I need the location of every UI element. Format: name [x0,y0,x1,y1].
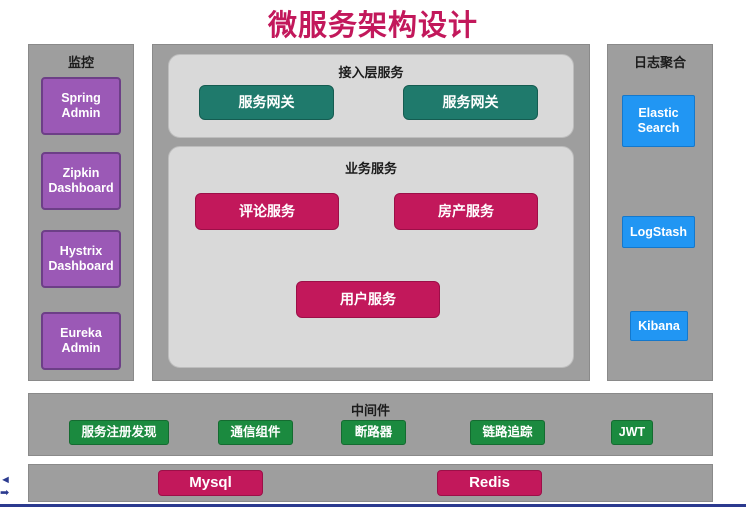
mysql[interactable]: Mysql [158,470,263,496]
redis[interactable]: Redis [437,470,542,496]
property-service[interactable]: 房产服务 [394,193,538,230]
service-gateway-1[interactable]: 服务网关 [199,85,334,120]
comment-service[interactable]: 评论服务 [195,193,339,230]
nav-arrows[interactable]: ◄ ➡ [0,479,24,493]
jwt[interactable]: JWT [611,420,653,445]
panel-monitor-label: 监控 [29,52,133,71]
panel-business-services: 业务服务 [168,146,574,368]
eureka-admin[interactable]: Eureka Admin [41,312,121,370]
panel-storage [28,464,713,502]
service-registry-discovery[interactable]: 服务注册发现 [69,420,169,445]
circuit-breaker[interactable]: 断路器 [341,420,406,445]
zipkin-dashboard[interactable]: Zipkin Dashboard [41,152,121,210]
panel-access-layer-label: 接入层服务 [169,62,573,81]
link-tracing[interactable]: 链路追踪 [470,420,545,445]
logstash[interactable]: LogStash [622,216,695,248]
service-gateway-2[interactable]: 服务网关 [403,85,538,120]
page-title: 微服务架构设计 [0,2,746,44]
panel-middleware-label: 中间件 [29,400,712,419]
hystrix-dashboard[interactable]: Hystrix Dashboard [41,230,121,288]
elastic-search[interactable]: Elastic Search [622,95,695,147]
panel-business-services-label: 业务服务 [169,158,573,177]
communication-component[interactable]: 通信组件 [218,420,293,445]
user-service[interactable]: 用户服务 [296,281,440,318]
panel-log-aggregation-label: 日志聚合 [608,52,712,71]
spring-admin[interactable]: Spring Admin [41,77,121,135]
kibana[interactable]: Kibana [630,311,688,341]
